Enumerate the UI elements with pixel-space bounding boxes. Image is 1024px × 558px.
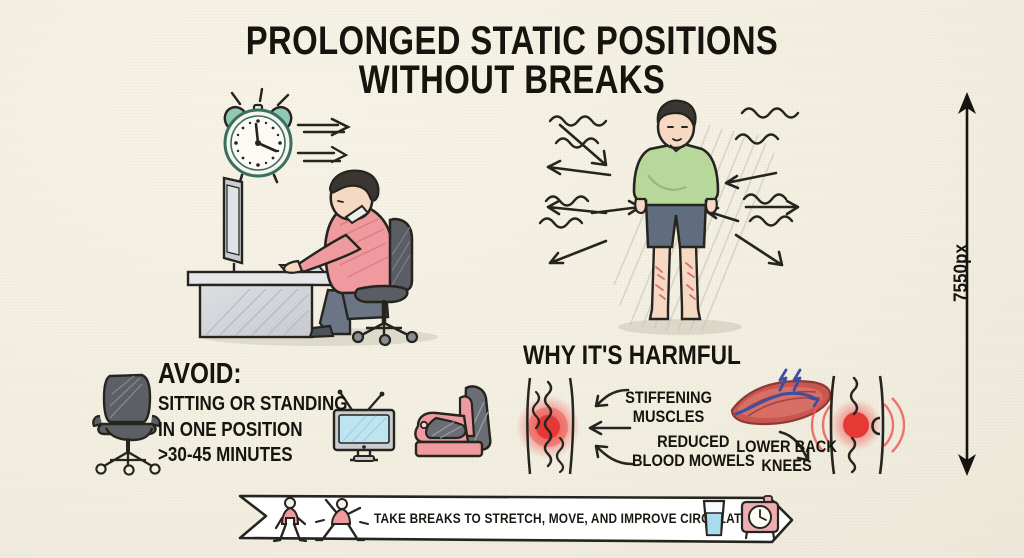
monitor-icon: [220, 178, 252, 274]
standing-scene: [530, 95, 820, 345]
infographic-poster: PROLONGED STATIC POSITIONS WITHOUT BREAK…: [0, 0, 1024, 558]
stretching-person-icon: [314, 494, 370, 544]
avoid-line-1: SITTING OR STANDING: [158, 393, 348, 415]
office-chair-icon: [88, 370, 166, 478]
lowerback-line-2: KNEES: [761, 456, 811, 475]
sitting-scene: [180, 85, 470, 350]
speed-lines: [298, 119, 348, 162]
alarm-clock-icon: [221, 89, 295, 182]
stiffening-line-1: STIFFENING: [625, 388, 712, 407]
alarm-clock-icon: [738, 494, 782, 540]
lowerback-line-1: LOWER BACK: [736, 437, 837, 456]
lower-back-knees-label: LOWER BACK KNEES: [736, 437, 837, 475]
walking-person-icon: [272, 496, 312, 544]
water-glass-icon: [698, 497, 730, 539]
title-line-2: WITHOUT BREAKS: [92, 61, 932, 100]
avoid-line-3: >30-45 MINUTES: [158, 444, 293, 466]
avoid-heading: AVOID:: [158, 358, 241, 391]
inflamed-joint-icon: [508, 372, 633, 482]
title-line-1: PROLONGED STATIC POSITIONS: [92, 22, 932, 61]
dimension-label: 7550px: [951, 244, 973, 302]
page-title: PROLONGED STATIC POSITIONS WITHOUT BREAK…: [0, 22, 1024, 100]
avoid-text: SITTING OR STANDING IN ONE POSITION >30-…: [158, 392, 348, 469]
standing-person: [634, 101, 718, 319]
stiffening-line-2: MUSCLES: [633, 407, 704, 426]
why-harmful-heading: WHY IT'S HARMFUL: [523, 340, 741, 371]
avoid-line-2: IN ONE POSITION: [158, 419, 303, 441]
reduced-line-1: REDUCED: [657, 432, 729, 451]
car-seat-icon: [410, 380, 500, 470]
stiffening-muscles-label: STIFFENING MUSCLES: [625, 388, 712, 426]
